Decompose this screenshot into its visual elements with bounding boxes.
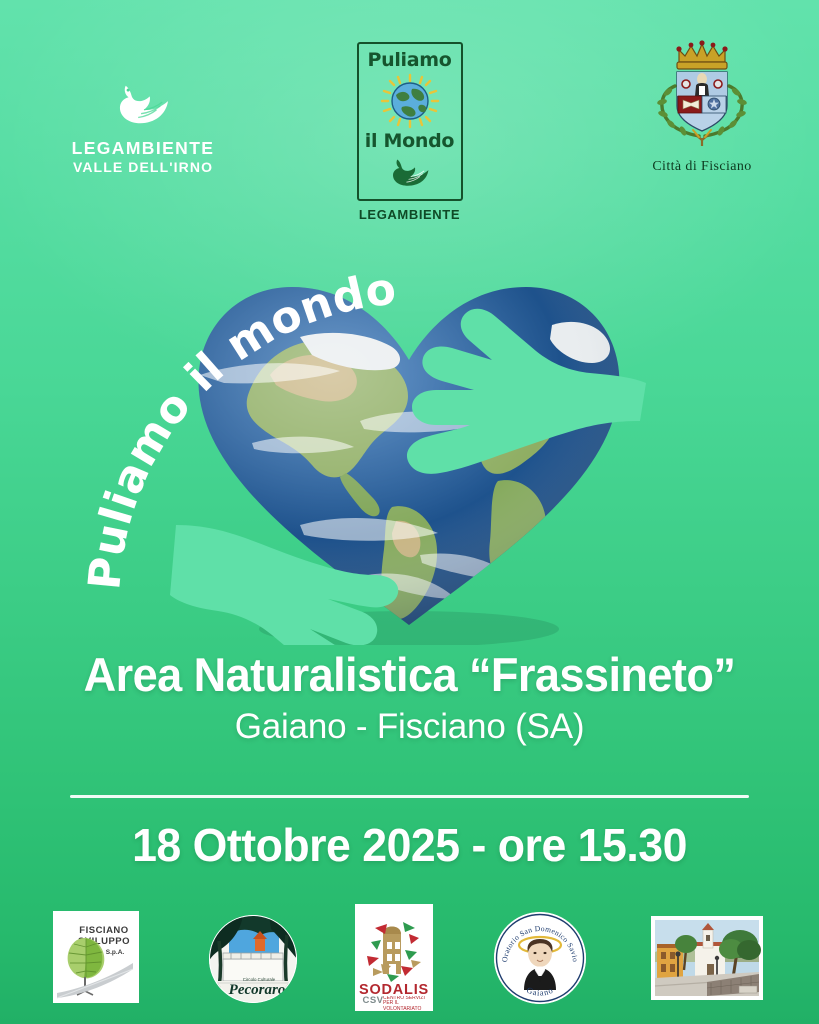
page-title: Area Naturalistica “Frassineto” — [16, 650, 802, 699]
pim-word-il-mondo: il Mondo — [365, 132, 455, 151]
event-date-time: 18 Ottobre 2025 - ore 15.30 — [12, 818, 806, 872]
sponsor-logo-row: FISCIANO SVILUPPO S.p.A. — [0, 900, 819, 1015]
heart-earth-svg: Puliamo il mondo — [0, 225, 819, 645]
coat-of-arms-icon — [647, 34, 757, 152]
globe-sun-icon — [378, 73, 442, 129]
building-mosaic-icon: SODALIS CSV CENTRO SERVIZI PER IL VOLONT… — [355, 904, 433, 1011]
legambiente-valle-irno-logo: LEGAMBIENTE VALLE DELL'IRNO — [48, 80, 238, 176]
sponsor-fisciano-sviluppo[interactable]: FISCIANO SVILUPPO S.p.A. — [53, 911, 139, 1003]
page-subtitle: Gaiano - Fisciano (SA) — [0, 707, 819, 747]
puliamo-il-mondo-box: Puliamo — [357, 42, 463, 201]
legambiente-label-line1: LEGAMBIENTE — [48, 138, 238, 158]
pim-word-puliamo: Puliamo — [365, 51, 455, 70]
sponsor-circolo-pecoraro[interactable]: Circolo Culturale Pecoraro — [209, 915, 297, 1003]
tree-and-road-icon: FISCIANO SVILUPPO S.p.A. — [53, 911, 139, 1003]
village-building-trees-icon: Circolo Culturale Pecoraro — [209, 915, 297, 1003]
title-block: Area Naturalistica “Frassineto” Gaiano -… — [0, 650, 819, 748]
fisciano-sviluppo-line3: S.p.A. — [106, 949, 125, 956]
sponsor-sodalis-csv[interactable]: SODALIS CSV CENTRO SERVIZI PER IL VOLONT… — [355, 904, 433, 1011]
poster-canvas: LEGAMBIENTE VALLE DELL'IRNO Puliamo — [0, 0, 819, 1024]
swan-icon — [112, 80, 174, 130]
pecoraro-line2: Pecoraro — [229, 982, 286, 998]
sodalis-line2: CSV — [362, 995, 383, 1006]
legambiente-label-line2: VALLE DELL'IRNO — [48, 158, 238, 176]
sponsor-gaiano-painting[interactable] — [651, 916, 763, 1000]
sponsor-oratorio-san-domenico-savio[interactable]: Oratorio San Domenico Savio Gaiano — [494, 912, 586, 1004]
sodalis-line3: CENTRO SERVIZI PER IL VOLONTARIATO DELLA… — [383, 996, 429, 1010]
hero-illustration: Puliamo il mondo — [0, 225, 819, 645]
village-square-painting-icon — [651, 916, 763, 1000]
fisciano-sviluppo-line1: FISCIANO — [79, 925, 128, 936]
comune-fisciano-logo: Città di Fisciano — [627, 34, 777, 175]
header-logo-row: LEGAMBIENTE VALLE DELL'IRNO Puliamo — [0, 0, 819, 210]
saint-portrait-icon: Oratorio San Domenico Savio Gaiano — [494, 912, 586, 1004]
horizontal-divider — [70, 795, 749, 798]
pim-legambiente-caption: LEGAMBIENTE — [357, 207, 463, 222]
comune-caption: Città di Fisciano — [627, 159, 777, 175]
swan-icon — [387, 156, 433, 190]
puliamo-il-mondo-logo: Puliamo — [357, 42, 463, 222]
